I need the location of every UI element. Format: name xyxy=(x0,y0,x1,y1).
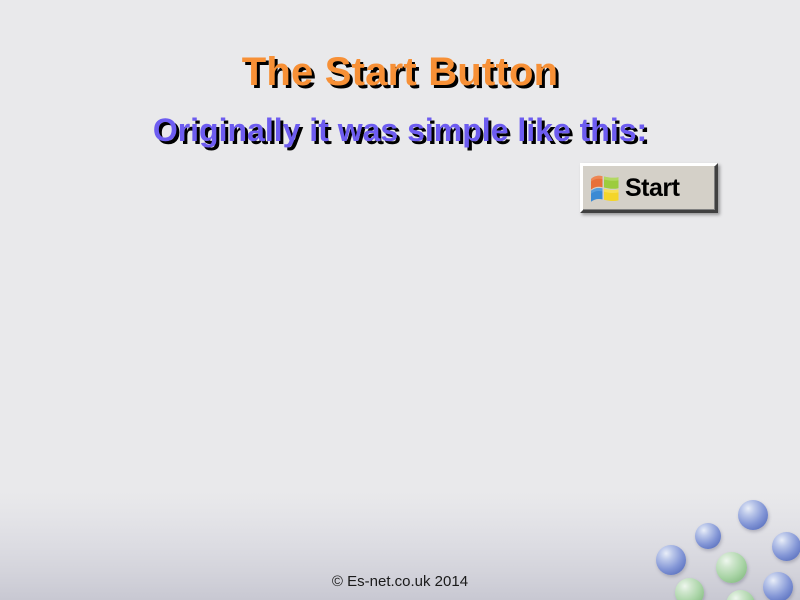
start-button-label: Start xyxy=(625,176,679,201)
footer-copyright: © Es-net.co.uk 2014 xyxy=(0,573,800,590)
start-button[interactable]: Start xyxy=(580,163,718,213)
sphere-1 xyxy=(738,500,768,530)
slide-canvas: The Start Button Originally it was simpl… xyxy=(0,0,800,600)
page-title: The Start Button xyxy=(0,50,800,95)
sphere-4 xyxy=(656,545,686,575)
sphere-3 xyxy=(772,532,800,561)
sphere-2 xyxy=(695,523,721,549)
slide-subtitle: Originally it was simple like this: xyxy=(0,112,800,149)
windows-flag-icon xyxy=(590,174,620,202)
sphere-8 xyxy=(726,590,755,600)
